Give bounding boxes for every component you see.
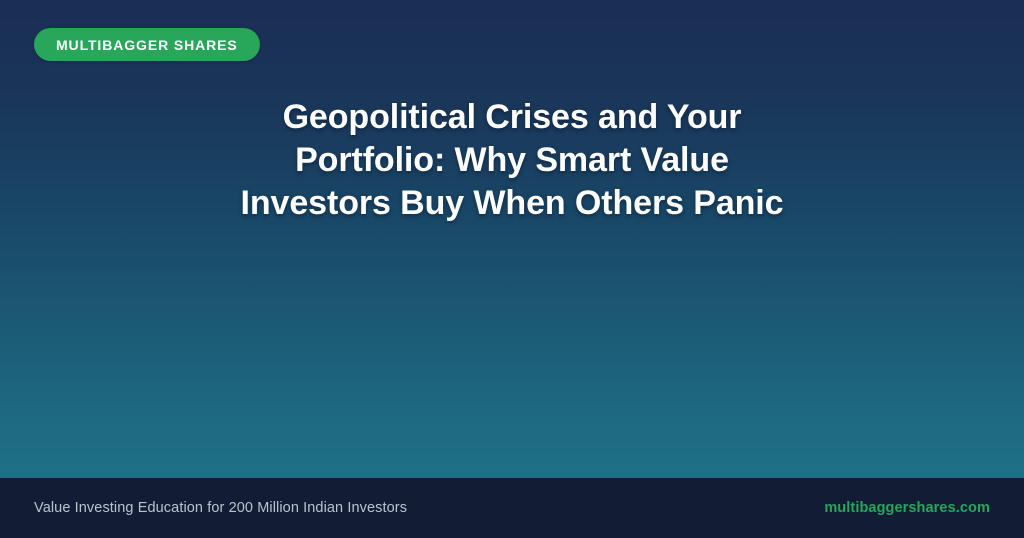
footer-website-url[interactable]: multibaggershares.com [824, 501, 990, 516]
hero-gradient-background [0, 0, 1024, 478]
page-title-line-3: Investors Buy When Others Panic [90, 182, 934, 225]
page-title-line-2: Portfolio: Why Smart Value [90, 139, 934, 182]
brand-badge-label: MULTIBAGGER SHARES [56, 38, 238, 52]
social-share-card: MULTIBAGGER SHARES Geopolitical Crises a… [0, 0, 1024, 538]
footer-tagline: Value Investing Education for 200 Millio… [34, 501, 407, 516]
page-title: Geopolitical Crises and Your Portfolio: … [0, 96, 1024, 225]
brand-badge: MULTIBAGGER SHARES [34, 28, 260, 61]
footer-bar: Value Investing Education for 200 Millio… [0, 478, 1024, 538]
page-title-line-1: Geopolitical Crises and Your [90, 96, 934, 139]
